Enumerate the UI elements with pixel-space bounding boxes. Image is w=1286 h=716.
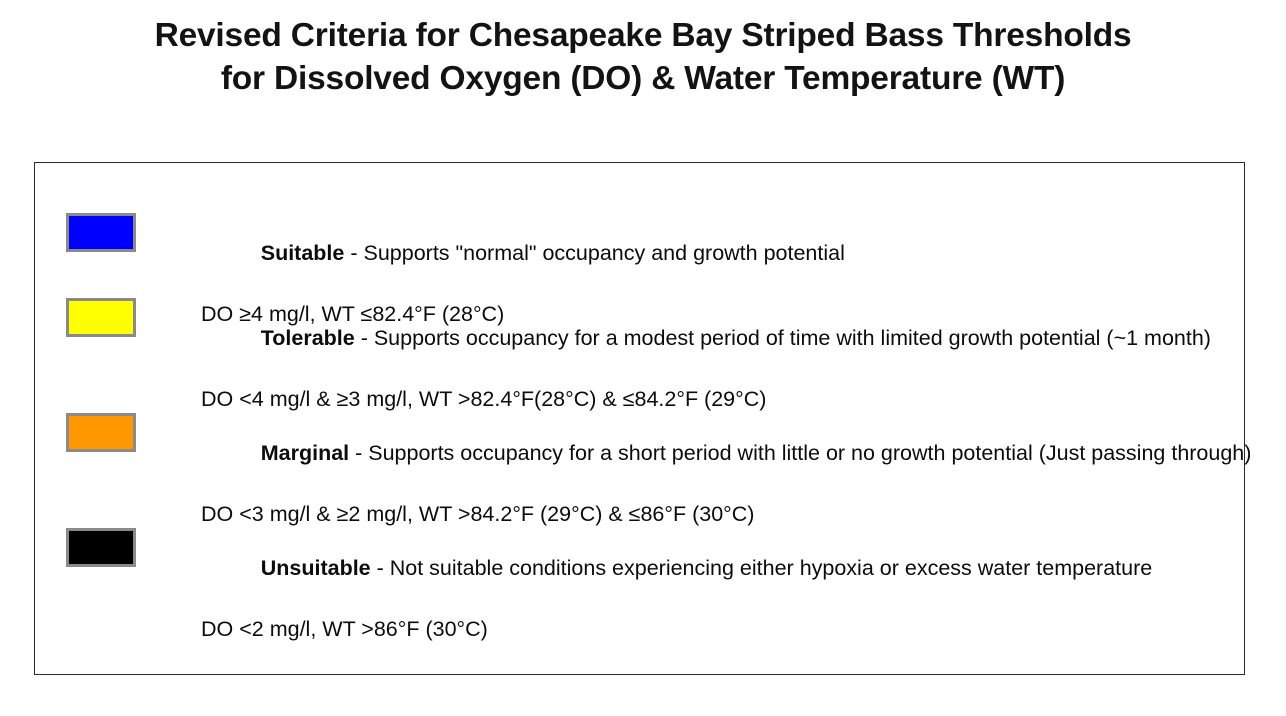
color-swatch-black <box>66 528 136 567</box>
color-swatch-yellow <box>66 298 136 337</box>
legend-description: Not suitable conditions experiencing eit… <box>390 556 1152 580</box>
page-title-line-2: for Dissolved Oxygen (DO) & Water Temper… <box>0 57 1286 100</box>
legend-description: Supports occupancy for a modest period o… <box>374 326 1211 350</box>
legend-category-label: Suitable <box>261 241 345 265</box>
slide-canvas: Revised Criteria for Chesapeake Bay Stri… <box>0 0 1286 716</box>
color-swatch-orange <box>66 413 136 452</box>
legend-separator: - <box>355 326 374 350</box>
legend-separator: - <box>371 556 390 580</box>
legend-panel: Suitable - Supports "normal" occupancy a… <box>34 162 1245 675</box>
legend-category-label: Marginal <box>261 441 349 465</box>
legend-separator: - <box>344 241 363 265</box>
page-title-line-1: Revised Criteria for Chesapeake Bay Stri… <box>0 14 1286 57</box>
legend-thresholds: DO <2 mg/l, WT >86°F (30°C) <box>201 614 1259 645</box>
legend-description: Supports "normal" occupancy and growth p… <box>363 241 844 265</box>
legend-description: Supports occupancy for a short period wi… <box>368 441 1251 465</box>
legend-category-label: Tolerable <box>261 326 355 350</box>
legend-category-label: Unsuitable <box>261 556 371 580</box>
legend-separator: - <box>349 441 368 465</box>
legend-item-text: Unsuitable - Not suitable conditions exp… <box>201 522 1259 707</box>
color-swatch-blue <box>66 213 136 252</box>
page-title: Revised Criteria for Chesapeake Bay Stri… <box>0 14 1286 100</box>
legend-list: Suitable - Supports "normal" occupancy a… <box>35 163 1244 674</box>
